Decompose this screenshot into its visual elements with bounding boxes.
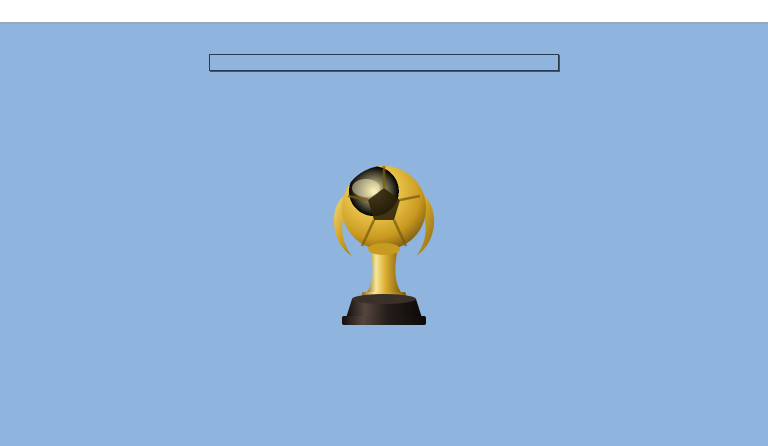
soccer-ball-trophy-icon xyxy=(318,152,450,327)
title-bar xyxy=(0,0,768,24)
subtitle-banner xyxy=(209,54,559,71)
